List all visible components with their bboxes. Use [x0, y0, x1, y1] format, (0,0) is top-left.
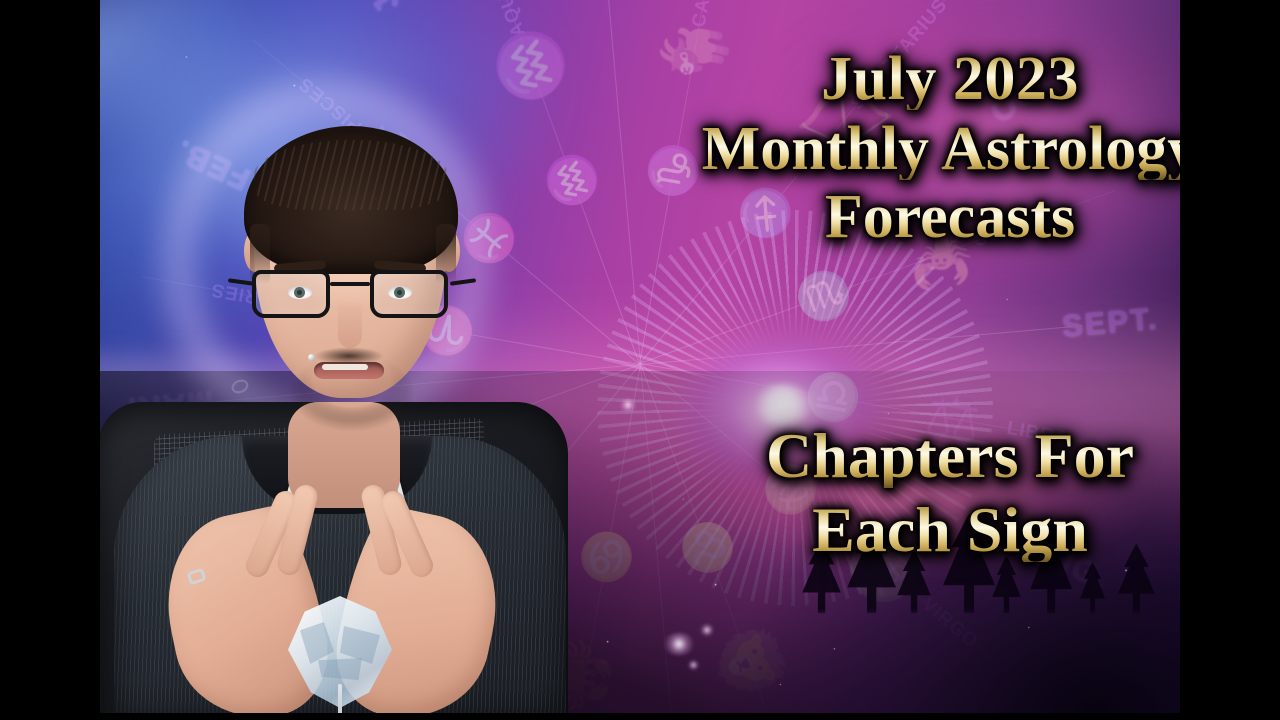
- lip-piercing: [308, 354, 315, 361]
- title-line-month-year: July 2023: [620, 48, 1180, 110]
- lens-left: [252, 270, 330, 318]
- crystal-facet-3: [318, 658, 362, 680]
- moustache: [302, 344, 396, 364]
- title-top: July 2023 Monthly Astrology Forecasts: [620, 48, 1180, 248]
- subtitle-line-each-sign: Each Sign: [660, 498, 1180, 562]
- person-presenter: [100, 84, 652, 713]
- youtube-thumbnail: DEC.NOV.OCT.SEPT.AUG.JULYJUNEMAYAPR.MAR.…: [0, 0, 1280, 720]
- letterbox-bar-bottom: [100, 713, 1180, 720]
- title-line-monthly-astrology: Monthly Astrology: [620, 118, 1180, 180]
- video-frame: DEC.NOV.OCT.SEPT.AUG.JULYJUNEMAYAPR.MAR.…: [100, 0, 1180, 713]
- nose: [338, 300, 362, 348]
- title-line-forecasts: Forecasts: [620, 186, 1180, 248]
- glasses-bridge: [330, 282, 370, 286]
- lens-right: [370, 270, 448, 318]
- title-bottom: Chapters For Each Sign: [660, 424, 1180, 562]
- mouth: [314, 362, 384, 379]
- letterbox-bar-left: [0, 0, 100, 720]
- teeth: [322, 364, 368, 370]
- light-flare-1: [662, 633, 696, 655]
- letterbox-bar-right: [1180, 0, 1280, 720]
- subtitle-line-chapters-for: Chapters For: [660, 424, 1180, 488]
- light-flare-2: [700, 624, 714, 636]
- necklace-chain: [338, 684, 342, 713]
- crystal-facet-1: [300, 622, 334, 664]
- light-flare-3: [688, 660, 699, 670]
